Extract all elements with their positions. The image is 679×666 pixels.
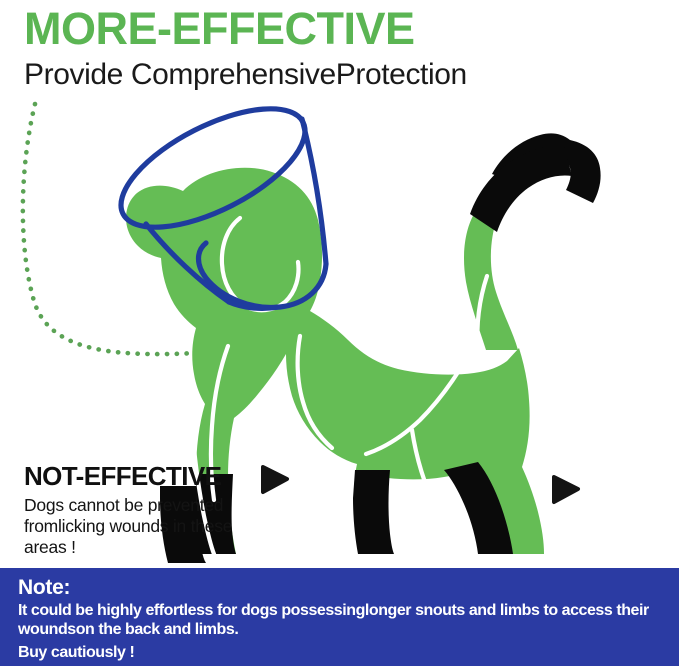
header-block: MORE-EFFECTIVE Provide ComprehensiveProt… [24,4,664,94]
dog-tail-tip [470,133,601,232]
not-effective-body: Dogs cannot be prevented fromlicking wou… [24,495,256,558]
note-label: Note: [18,576,665,600]
note-banner: Note: It could be highly effortless for … [0,568,679,666]
page-subtitle: Provide ComprehensiveProtection [24,56,664,94]
not-effective-title: NOT-EFFECTIVE [24,461,274,491]
note-body: It could be highly effortless for dogs p… [18,601,668,639]
note-cta: Buy cautiously ! [18,643,665,662]
rear-paw-arrow-marker [554,477,578,502]
page-title: MORE-EFFECTIVE [24,4,664,54]
not-effective-block: NOT-EFFECTIVE Dogs cannot be prevented f… [24,461,274,558]
infographic-page: MORE-EFFECTIVE Provide ComprehensiveProt… [0,0,679,666]
